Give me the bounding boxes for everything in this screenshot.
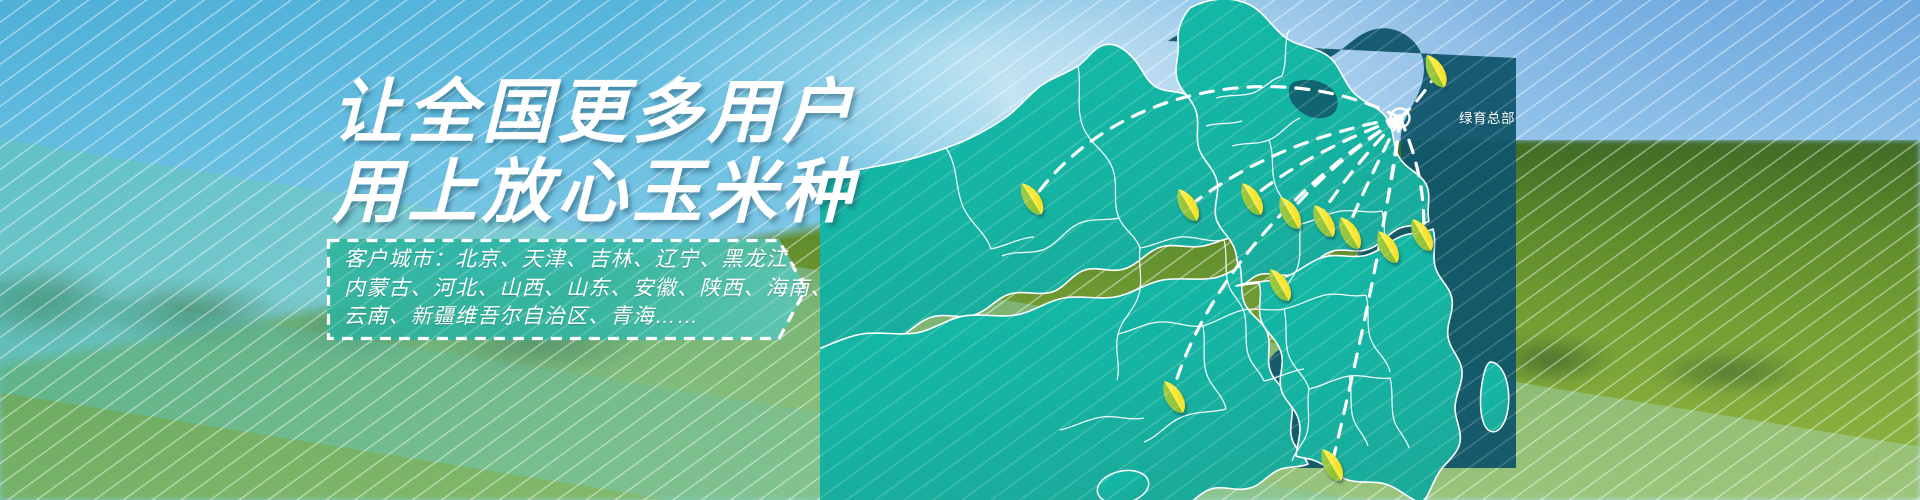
customer-cities-line-2: 内蒙古、河北、山西、山东、安徽、陕西、海南、	[344, 275, 773, 304]
hq-label: 绿育总部	[1459, 107, 1515, 127]
headline-line-1: 让全国更多用户	[332, 72, 992, 152]
customer-cities-line-1: 客户城市：北京、天津、吉林、辽宁、黑龙江、	[344, 246, 773, 275]
customer-cities-line-3: 云南、新疆维吾尔自治区、青海……	[344, 303, 773, 332]
customer-cities-text: 客户城市：北京、天津、吉林、辽宁、黑龙江、 内蒙古、河北、山西、山东、安徽、陕西…	[344, 246, 773, 332]
customer-cities-box: 客户城市：北京、天津、吉林、辽宁、黑龙江、 内蒙古、河北、山西、山东、安徽、陕西…	[327, 239, 807, 340]
headline-line-2: 用上放心玉米种	[332, 152, 992, 232]
headline: 让全国更多用户 用上放心玉米种	[332, 72, 992, 232]
promo-banner: 绿育总部 让全国更多用户 用上放心玉米种 客户城市：北京、天津、吉林、辽宁、黑龙…	[0, 0, 1920, 500]
